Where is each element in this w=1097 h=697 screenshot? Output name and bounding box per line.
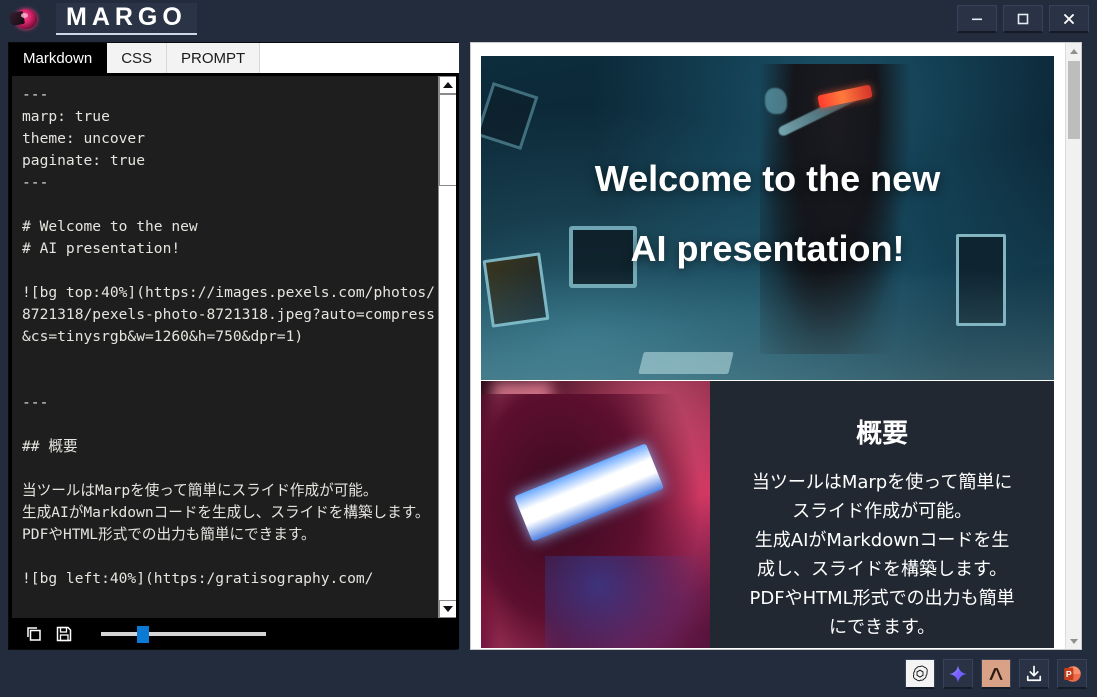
slide-2-heading: 概要 <box>740 413 1024 450</box>
maximize-button[interactable] <box>1003 5 1043 33</box>
close-icon <box>1062 12 1076 26</box>
window-controls <box>957 5 1097 33</box>
gem-logo-icon <box>10 7 42 31</box>
save-floppy-icon <box>54 624 74 644</box>
slide-2-body: 当ツールはMarpを使って簡単に スライド作成が可能。 生成AIがMarkdow… <box>740 468 1024 642</box>
download-icon <box>1024 664 1044 684</box>
gemini-sparkle-icon <box>948 664 968 684</box>
action-bar: P <box>905 657 1087 691</box>
slide-1-title-line-1: Welcome to the new <box>481 144 1054 214</box>
scroll-down-arrow-icon <box>443 606 453 612</box>
tab-css[interactable]: CSS <box>107 43 167 73</box>
zoom-slider[interactable] <box>101 624 266 644</box>
neon-visor-portrait-photo <box>481 381 710 648</box>
slide-2-body-line-4: 成し、スライドを構築します。 <box>740 555 1024 584</box>
preview-scroll-down-button[interactable] <box>1066 633 1082 649</box>
scroll-down-arrow-icon <box>1070 639 1078 644</box>
anthropic-claude-icon <box>986 664 1006 684</box>
app-title: MARGO <box>56 3 197 35</box>
slide-preview-panel: Welcome to the new AI presentation! 概要 当… <box>470 42 1082 650</box>
preview-scrollbar[interactable] <box>1065 43 1081 649</box>
copy-icon <box>24 624 44 644</box>
claude-button[interactable] <box>981 659 1011 689</box>
title-bar: MARGO <box>0 0 1097 38</box>
slide-2-body-line-2: スライド作成が可能。 <box>740 497 1024 526</box>
slide-2-body-line-6: にできます。 <box>740 613 1024 642</box>
editor-toolbar <box>9 619 459 649</box>
openai-chatgpt-button[interactable] <box>905 659 935 689</box>
powerpoint-export-button[interactable]: P <box>1057 659 1087 689</box>
zoom-slider-track <box>101 632 266 636</box>
slide-list: Welcome to the new AI presentation! 概要 当… <box>481 56 1054 648</box>
svg-text:P: P <box>1066 668 1072 678</box>
scroll-up-arrow-icon <box>1070 49 1078 54</box>
slide-2-content: 概要 当ツールはMarpを使って簡単に スライド作成が可能。 生成AIがMark… <box>710 381 1054 648</box>
editor-panel: Markdown CSS PROMPT --- marp: true theme… <box>8 42 458 650</box>
slide-1-title: Welcome to the new AI presentation! <box>481 144 1054 284</box>
app-logo <box>6 0 46 38</box>
slide-1[interactable]: Welcome to the new AI presentation! <box>481 56 1054 380</box>
preview-scroll-thumb[interactable] <box>1068 61 1080 139</box>
editor-scroll-down-button[interactable] <box>439 600 457 618</box>
slide-2-body-line-3: 生成AIがMarkdownコードを生 <box>740 526 1024 555</box>
powerpoint-icon: P <box>1061 663 1083 685</box>
tab-prompt[interactable]: PROMPT <box>167 43 260 73</box>
editor-scroll-thumb[interactable] <box>439 94 457 186</box>
slide-2[interactable]: 概要 当ツールはMarpを使って簡単に スライド作成が可能。 生成AIがMark… <box>481 381 1054 648</box>
slide-1-title-line-2: AI presentation! <box>481 214 1054 284</box>
preview-scroll-up-button[interactable] <box>1066 43 1082 59</box>
tab-markdown[interactable]: Markdown <box>9 43 107 73</box>
minimize-button[interactable] <box>957 5 997 33</box>
close-button[interactable] <box>1049 5 1089 33</box>
gemini-button[interactable] <box>943 659 973 689</box>
markdown-textarea[interactable]: --- marp: true theme: uncover paginate: … <box>12 76 444 618</box>
editor-scroll-up-button[interactable] <box>439 76 457 94</box>
download-button[interactable] <box>1019 659 1049 689</box>
zoom-slider-thumb[interactable] <box>137 626 149 643</box>
tab-strip-filler <box>260 43 459 73</box>
maximize-icon <box>1016 12 1030 26</box>
save-button[interactable] <box>49 622 79 646</box>
minimize-icon <box>970 12 984 26</box>
editor-scrollbar[interactable] <box>438 76 456 618</box>
openai-icon <box>910 664 930 684</box>
slide-2-body-line-5: PDFやHTML形式での出力も簡単 <box>740 584 1024 613</box>
editor-tabs: Markdown CSS PROMPT <box>9 43 459 73</box>
scroll-up-arrow-icon <box>443 82 453 88</box>
slide-2-body-line-1: 当ツールはMarpを使って簡単に <box>740 468 1024 497</box>
copy-button[interactable] <box>19 622 49 646</box>
markdown-editor-body: --- marp: true theme: uncover paginate: … <box>9 73 459 621</box>
